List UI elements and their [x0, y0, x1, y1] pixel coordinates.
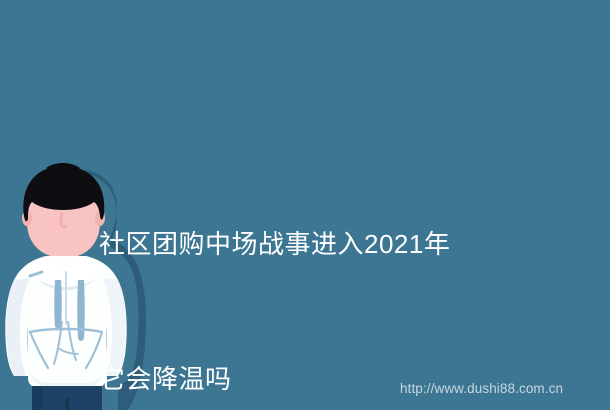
drawstring-right — [77, 280, 85, 341]
image-canvas: 社区团购中场战事进入2021年 它会降温吗 http://www.dushi88… — [0, 0, 610, 410]
headline-text: 社区团购中场战事进入2021年 它会降温吗 — [99, 132, 569, 410]
watermark-url: http://www.dushi88.com.cn — [400, 381, 563, 396]
trousers-left-shade — [32, 386, 42, 410]
drawstring-left — [54, 280, 62, 329]
headline-line-1: 社区团购中场战事进入2021年 — [99, 222, 569, 267]
